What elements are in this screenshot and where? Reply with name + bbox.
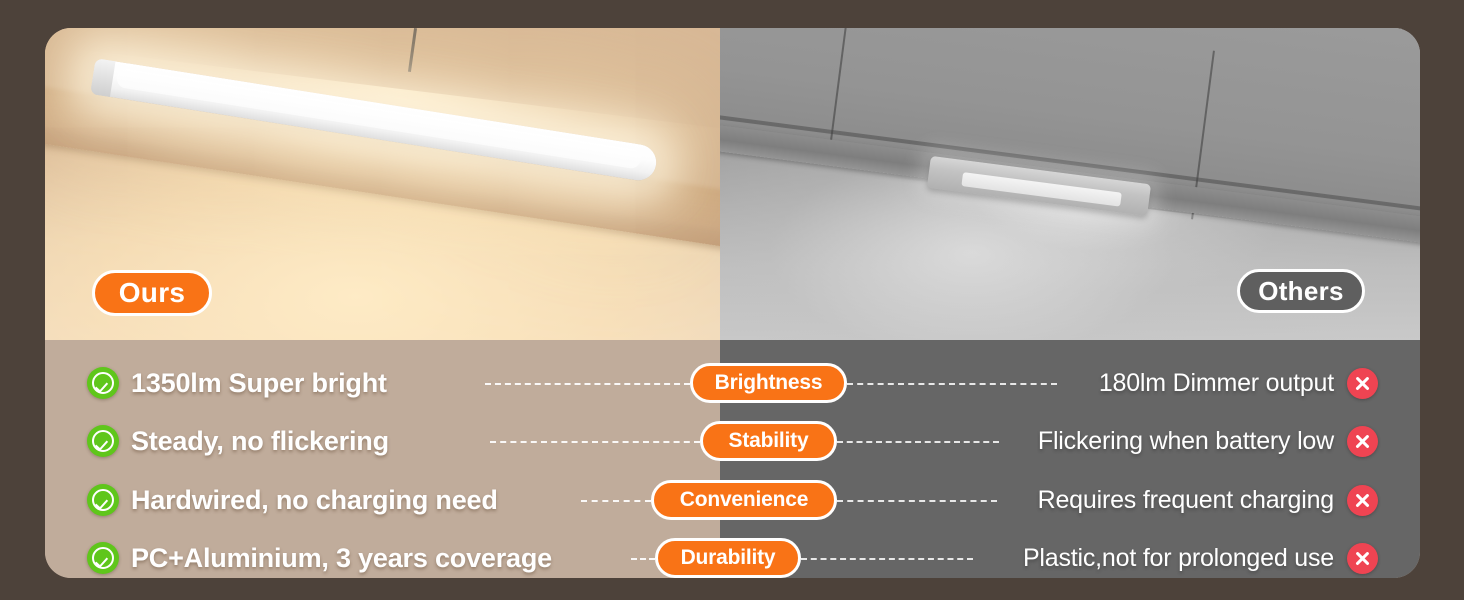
others-cell: 180lm Dimmer output <box>1099 360 1378 406</box>
lamp-end-cap <box>90 58 115 97</box>
category-pill: Brightness <box>690 363 847 403</box>
connector-dash-right <box>801 558 973 560</box>
ours-feature-label: PC+Aluminium, 3 years coverage <box>131 543 552 574</box>
others-cell: Plastic,not for prolonged use <box>1023 535 1378 578</box>
connector-dash-right <box>847 383 1057 385</box>
check-circle-icon <box>87 425 119 457</box>
ours-feature-label: Hardwired, no charging need <box>131 485 498 516</box>
cross-circle-icon <box>1347 543 1378 574</box>
connector-dash-right <box>837 441 999 443</box>
connector-dash-right <box>837 500 997 502</box>
cross-circle-icon <box>1347 485 1378 516</box>
table-row: Steady, no flickering Stability Flickeri… <box>45 418 1420 464</box>
connector-dash-left <box>490 441 700 443</box>
category-pill: Convenience <box>651 480 837 520</box>
category-pill: Durability <box>655 538 801 578</box>
table-row: 1350lm Super bright Brightness 180lm Dim… <box>45 360 1420 406</box>
category-pill: Stability <box>700 421 837 461</box>
others-feature-label: 180lm Dimmer output <box>1099 369 1334 398</box>
others-cell: Requires frequent charging <box>1038 477 1378 523</box>
cross-circle-icon <box>1347 426 1378 457</box>
connector-dash-left <box>485 383 690 385</box>
photo-row: Ours Others <box>45 28 1420 340</box>
check-circle-icon <box>87 542 119 574</box>
ours-cell: PC+Aluminium, 3 years coverage <box>87 535 683 578</box>
connector-dash-left <box>581 500 651 502</box>
others-feature-label: Flickering when battery low <box>1038 427 1334 456</box>
others-cell: Flickering when battery low <box>1038 418 1378 464</box>
others-feature-label: Requires frequent charging <box>1038 486 1334 515</box>
check-circle-icon <box>87 484 119 516</box>
ours-feature-label: 1350lm Super bright <box>131 368 387 399</box>
comparison-card: Ours Others 1350lm Super bright Brightne… <box>45 28 1420 578</box>
connector-dash-left <box>631 558 655 560</box>
infographic-frame: Ours Others 1350lm Super bright Brightne… <box>0 0 1464 600</box>
ours-badge: Ours <box>92 270 212 316</box>
table-row: PC+Aluminium, 3 years coverage Durabilit… <box>45 535 1420 578</box>
others-feature-label: Plastic,not for prolonged use <box>1023 544 1334 573</box>
ours-feature-label: Steady, no flickering <box>131 426 389 457</box>
others-badge: Others <box>1237 269 1365 313</box>
comparison-table: 1350lm Super bright Brightness 180lm Dim… <box>45 340 1420 578</box>
cross-circle-icon <box>1347 368 1378 399</box>
check-circle-icon <box>87 367 119 399</box>
table-row: Hardwired, no charging need Convenience … <box>45 477 1420 523</box>
